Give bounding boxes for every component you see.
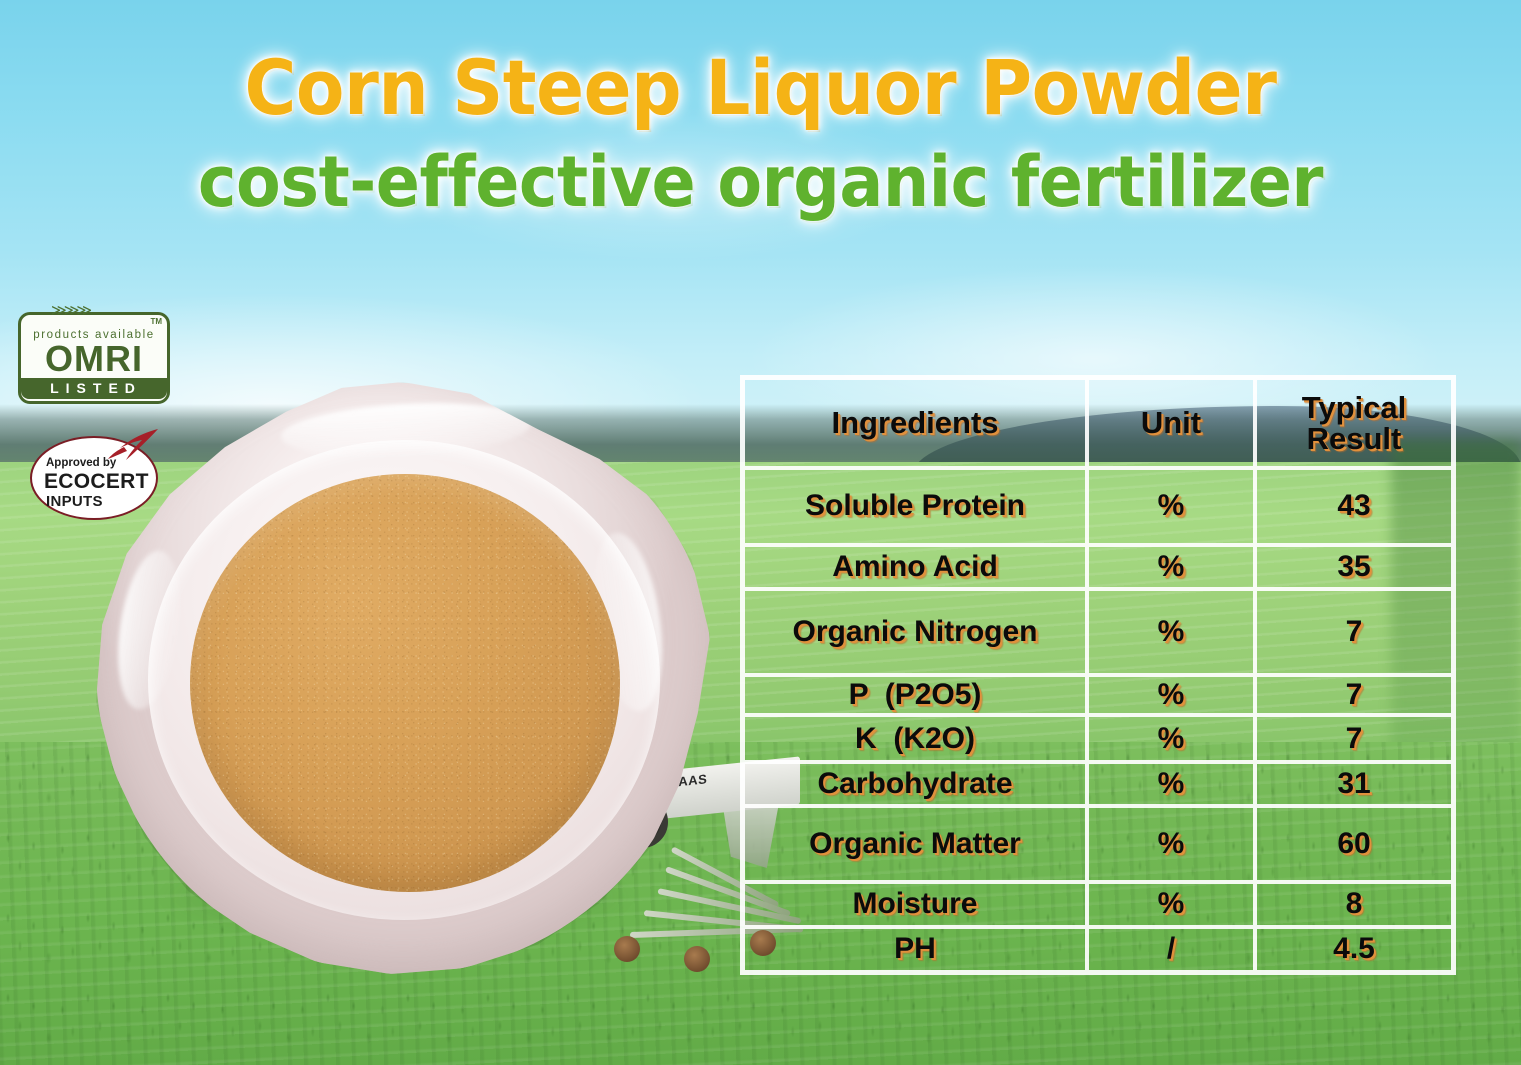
cell-ingredient: Organic Matter (745, 808, 1085, 880)
heading-block: Corn Steep Liquor Powder cost-effective … (0, 48, 1521, 219)
cell-ingredient: Moisture (745, 884, 1085, 924)
powder-grain-texture (190, 474, 620, 892)
table-row: K (K2O) % 7 (745, 713, 1451, 759)
table-row: Carbohydrate % 31 (745, 760, 1451, 804)
cell-result: 7 (1253, 591, 1451, 673)
bowl-highlight (280, 397, 532, 462)
cell-ingredient: Soluble Protein (745, 470, 1085, 543)
omri-status: LISTED (21, 378, 167, 399)
product-photo (96, 382, 710, 982)
cell-unit: % (1085, 764, 1253, 804)
ecocert-inputs-badge: Approved by ECOCERT INPUTS (30, 436, 158, 520)
ecocert-name: ECOCERT (44, 470, 149, 494)
table-header-row: Ingredients Unit Typical Result (745, 380, 1451, 466)
cell-result: 7 (1253, 717, 1451, 759)
trademark-icon: TM (150, 317, 162, 326)
table-row: Amino Acid % 35 (745, 543, 1451, 587)
header-typical-result: Typical Result (1253, 380, 1451, 466)
cell-result: 60 (1253, 808, 1451, 880)
cell-unit: % (1085, 547, 1253, 587)
table-row: Organic Matter % 60 (745, 804, 1451, 880)
cell-unit: / (1085, 929, 1253, 970)
ecocert-approved-label: Approved by (46, 457, 116, 469)
cell-ingredient: P (P2O5) (745, 677, 1085, 713)
ecocert-scope: INPUTS (46, 493, 103, 510)
cell-result: 4.5 (1253, 929, 1451, 970)
table-row: PH / 4.5 (745, 925, 1451, 970)
cell-ingredient: Carbohydrate (745, 764, 1085, 804)
cell-ingredient: PH (745, 929, 1085, 970)
powder-fill (190, 474, 620, 892)
cell-result: 31 (1253, 764, 1451, 804)
cell-result: 8 (1253, 884, 1451, 924)
specification-table: Ingredients Unit Typical Result Soluble … (740, 375, 1456, 975)
omri-listed-badge: ≫≫≫ TM products available OMRI LISTED (18, 312, 170, 404)
cell-ingredient: Organic Nitrogen (745, 591, 1085, 673)
header-unit: Unit (1085, 380, 1253, 466)
table-row: Soluble Protein % 43 (745, 466, 1451, 543)
cell-unit: % (1085, 808, 1253, 880)
header-ingredients: Ingredients (745, 380, 1085, 466)
table-row: Moisture % 8 (745, 880, 1451, 924)
cell-result: 35 (1253, 547, 1451, 587)
cell-result: 43 (1253, 470, 1451, 543)
cell-ingredient: K (K2O) (745, 717, 1085, 759)
cell-unit: % (1085, 884, 1253, 924)
wheat-icon: ≫≫≫ (51, 304, 121, 320)
page-subtitle: cost-effective organic fertilizer (53, 146, 1468, 220)
product-poster: CLAAS Corn Steep Liquor Powder cost-effe… (0, 0, 1521, 1065)
cell-unit: % (1085, 470, 1253, 543)
omri-name: OMRI (27, 342, 161, 376)
cell-unit: % (1085, 677, 1253, 713)
cell-unit: % (1085, 591, 1253, 673)
table-row: P (P2O5) % 7 (745, 673, 1451, 713)
page-title: Corn Steep Liquor Powder (53, 48, 1468, 128)
cell-ingredient: Amino Acid (745, 547, 1085, 587)
header-typical-result-line1: Typical (1302, 392, 1407, 423)
table-row: Organic Nitrogen % 7 (745, 587, 1451, 673)
header-typical-result-line2: Result (1307, 423, 1402, 454)
cell-unit: % (1085, 717, 1253, 759)
cell-result: 7 (1253, 677, 1451, 713)
